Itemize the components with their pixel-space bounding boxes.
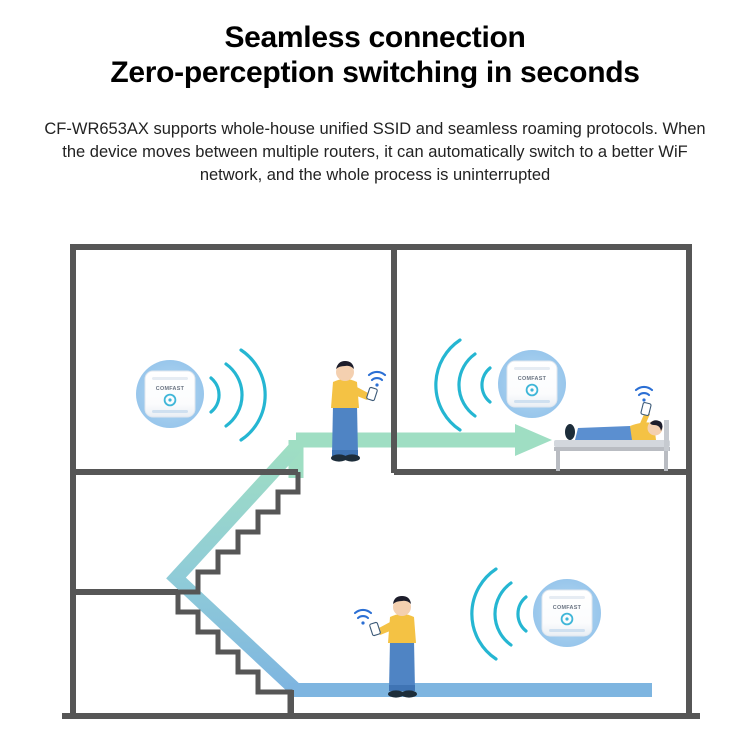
wave-3 bbox=[436, 340, 460, 430]
router-brand-label: COMFAST bbox=[156, 386, 185, 392]
wave-1 bbox=[482, 368, 490, 402]
wave-2 bbox=[226, 364, 242, 426]
stair-landing-line bbox=[70, 589, 178, 595]
phone-wifi-icon bbox=[636, 387, 652, 402]
pants-hem bbox=[389, 685, 415, 691]
bed-headboard bbox=[664, 420, 669, 451]
router-brand-label: COMFAST bbox=[553, 605, 582, 611]
router-base bbox=[514, 400, 550, 403]
wifi-waves-lower-right bbox=[472, 569, 526, 659]
headline-line-2: Zero-perception switching in seconds bbox=[0, 57, 750, 89]
wall-right-outer bbox=[686, 244, 692, 719]
shoe-right bbox=[344, 454, 360, 461]
router-lower-right: COMFAST bbox=[533, 579, 601, 647]
router-base bbox=[549, 629, 585, 632]
pants bbox=[389, 640, 415, 690]
pants bbox=[332, 405, 358, 455]
shoe-right bbox=[401, 690, 417, 697]
house-structure bbox=[62, 244, 700, 719]
router-led-dot bbox=[565, 617, 568, 620]
wave-1 bbox=[211, 378, 219, 412]
bed-frame-rail bbox=[554, 447, 670, 451]
phone bbox=[366, 387, 377, 401]
wave-3 bbox=[241, 350, 265, 440]
wave-3 bbox=[472, 569, 496, 659]
phone-wifi-icon bbox=[369, 372, 385, 387]
ceiling-line bbox=[70, 244, 692, 250]
wall-divider-upper bbox=[391, 246, 397, 473]
router-brand-label: COMFAST bbox=[518, 376, 547, 382]
wave-2 bbox=[495, 583, 511, 645]
phone-wifi-icon bbox=[355, 610, 371, 625]
headline-line-1: Seamless connection bbox=[0, 22, 750, 54]
mid-floor-line bbox=[70, 469, 298, 475]
person-standing-lower bbox=[355, 596, 417, 698]
wall-left-outer bbox=[70, 244, 76, 719]
page-title: Seamless connection Zero-perception swit… bbox=[0, 22, 750, 89]
router-upper-right: COMFAST bbox=[498, 350, 566, 418]
stairs-upper-flight bbox=[178, 472, 298, 592]
blanket bbox=[575, 426, 634, 440]
mid-floor-line-right bbox=[394, 469, 692, 475]
phone bbox=[641, 402, 652, 416]
wifi-waves-upper-left bbox=[211, 350, 265, 440]
router-vent bbox=[514, 367, 550, 370]
wifi-waves-upper-right bbox=[436, 340, 490, 430]
wave-1 bbox=[518, 597, 526, 631]
router-vent bbox=[549, 596, 585, 599]
person-lying-bed bbox=[554, 387, 670, 471]
promo-page: Seamless connection Zero-perception swit… bbox=[0, 0, 750, 750]
bed-leg-right bbox=[664, 451, 668, 471]
router-led-dot bbox=[530, 388, 533, 391]
ground-floor-line bbox=[62, 713, 700, 719]
stairs-lower-flight bbox=[178, 592, 290, 713]
router-base bbox=[152, 410, 188, 413]
bed-mattress-top bbox=[554, 440, 670, 447]
bed-leg-left bbox=[556, 451, 560, 471]
phone bbox=[369, 622, 380, 636]
router-upper-left: COMFAST bbox=[136, 360, 204, 428]
wave-2 bbox=[459, 354, 475, 416]
shoe bbox=[565, 424, 575, 440]
house-illustration: COMFAST bbox=[0, 228, 750, 750]
router-led-dot bbox=[168, 398, 171, 401]
page-subcopy: CF-WR653AX supports whole-house unified … bbox=[35, 118, 715, 187]
router-vent bbox=[152, 377, 188, 380]
